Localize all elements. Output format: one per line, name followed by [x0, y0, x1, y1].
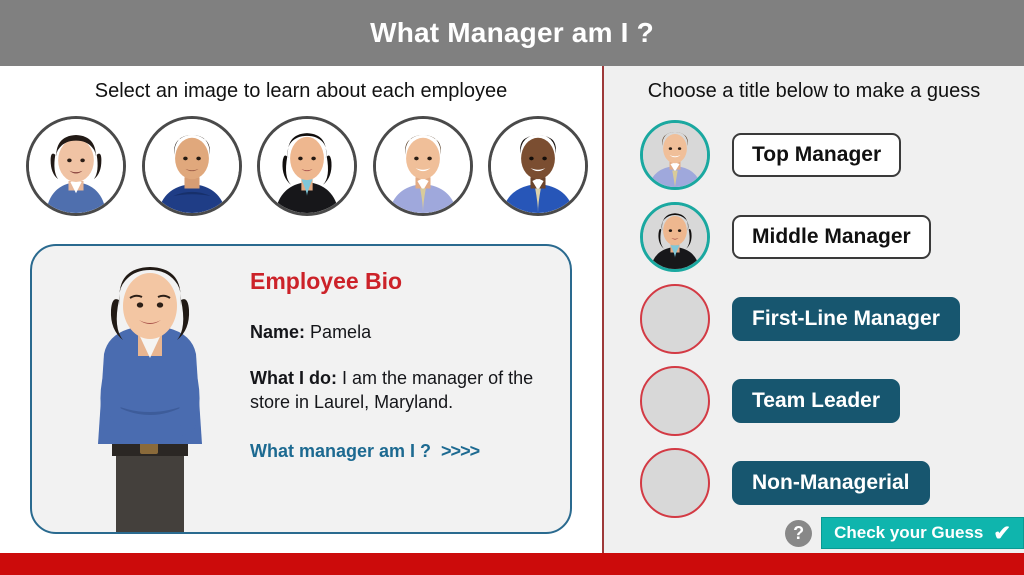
page-title: What Manager am I ?: [370, 17, 654, 49]
guess-row: Team Leader: [604, 360, 1024, 442]
header-bar: What Manager am I ?: [0, 0, 1024, 66]
avatar-female-3-icon: [260, 119, 354, 213]
check-button-label: Check your Guess: [834, 523, 983, 543]
title-button-first-line-manager[interactable]: First-Line Manager: [732, 297, 960, 341]
avatar-female-3-icon: [643, 205, 707, 269]
left-panel: Select an image to learn about each empl…: [0, 66, 602, 553]
avatar-male-4-icon: [643, 123, 707, 187]
employee-thumbnail-2[interactable]: [142, 116, 242, 216]
employee-thumbnail-5[interactable]: [488, 116, 588, 216]
employee-bio-card: Employee Bio Name: Pamela What I do: I a…: [30, 244, 572, 534]
guess-row: First-Line Manager: [604, 278, 1024, 360]
chevrons-icon: >>>>: [441, 441, 479, 461]
title-button-label: First-Line Manager: [752, 307, 940, 331]
check-guess-bar: ? Check your Guess ✔: [785, 517, 1024, 549]
guess-row: Middle Manager: [604, 196, 1024, 278]
guess-slot-middle-manager[interactable]: [640, 202, 710, 272]
avatar-male-5-icon: [491, 119, 585, 213]
what-manager-link-text: What manager am I ?: [250, 441, 431, 461]
check-your-guess-button[interactable]: Check your Guess ✔: [821, 517, 1024, 549]
footer-bar: [0, 553, 1024, 575]
title-button-team-leader[interactable]: Team Leader: [732, 379, 900, 423]
right-instruction-text: Choose a title below to make a guess: [604, 80, 1024, 103]
guess-slot-team-leader[interactable]: [640, 366, 710, 436]
avatar-male-2-icon: [145, 119, 239, 213]
guess-slot-first-line-manager[interactable]: [640, 284, 710, 354]
employee-thumbnail-1[interactable]: [26, 116, 126, 216]
bio-role-line: What I do: I am the manager of the store…: [250, 367, 550, 415]
employee-thumbnail-3[interactable]: [257, 116, 357, 216]
bio-text-block: Employee Bio Name: Pamela What I do: I a…: [250, 268, 550, 462]
guess-row: Non-Managerial: [604, 442, 1024, 524]
title-button-label: Non-Managerial: [752, 471, 910, 495]
what-manager-link[interactable]: What manager am I ?>>>>: [250, 441, 550, 462]
bio-heading: Employee Bio: [250, 268, 550, 295]
bio-name-line: Name: Pamela: [250, 321, 550, 345]
title-button-label: Team Leader: [752, 389, 880, 413]
guess-row: Top Manager: [604, 114, 1024, 196]
bio-name-label: Name:: [250, 322, 305, 342]
employee-thumbnail-row: [26, 114, 588, 218]
avatar-pamela-icon: [29, 119, 123, 213]
checkmark-icon: ✔: [993, 523, 1011, 544]
title-button-label: Middle Manager: [752, 225, 911, 249]
right-panel: Choose a title below to make a guess: [604, 66, 1024, 553]
title-button-middle-manager[interactable]: Middle Manager: [732, 215, 931, 259]
guess-slot-top-manager[interactable]: [640, 120, 710, 190]
employee-thumbnail-4[interactable]: [373, 116, 473, 216]
left-instruction-text: Select an image to learn about each empl…: [0, 80, 602, 103]
bio-name-value: Pamela: [310, 322, 371, 342]
help-icon[interactable]: ?: [785, 520, 812, 547]
bio-photo-pamela: [60, 254, 240, 534]
bio-role-label: What I do:: [250, 368, 337, 388]
slide-root: What Manager am I ? Select an image to l…: [0, 0, 1024, 575]
title-button-label: Top Manager: [752, 143, 881, 167]
guess-row-list: Top Manager: [604, 114, 1024, 524]
title-button-non-managerial[interactable]: Non-Managerial: [732, 461, 930, 505]
title-button-top-manager[interactable]: Top Manager: [732, 133, 901, 177]
guess-slot-non-managerial[interactable]: [640, 448, 710, 518]
avatar-male-4-icon: [376, 119, 470, 213]
